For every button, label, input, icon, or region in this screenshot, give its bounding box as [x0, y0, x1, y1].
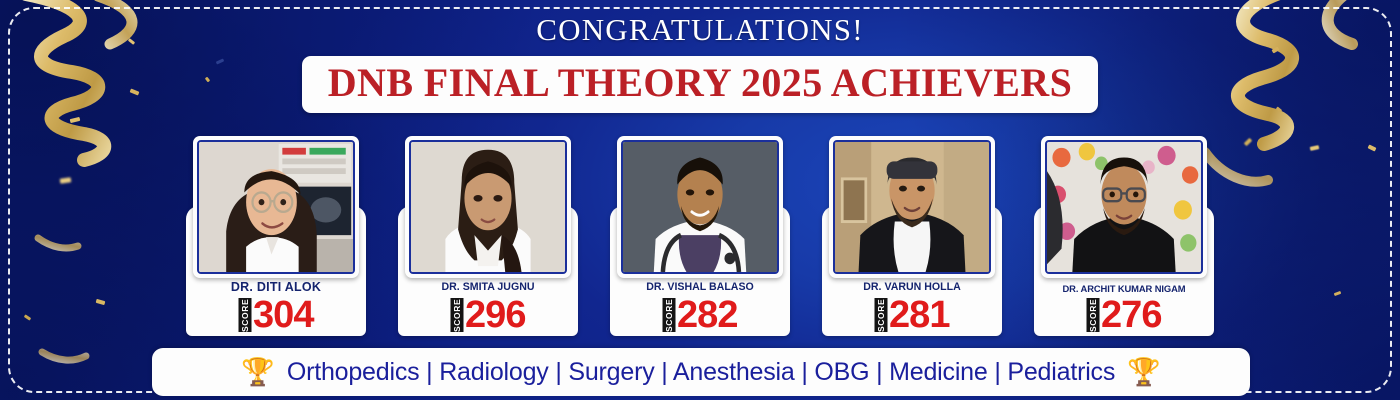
trophy-icon: 🏆: [241, 359, 275, 386]
card-caption: DR. SMITA JUGNU SCORE 296: [389, 282, 587, 336]
score-row: SCORE 304: [177, 296, 375, 336]
achiever-name: DR. DITI ALOK: [177, 281, 375, 294]
achiever-card[interactable]: DR. VARUN HOLLA SCORE 281: [813, 136, 1011, 336]
photo-frame: [405, 136, 571, 278]
photo-frame: [1041, 136, 1207, 278]
score-label: SCORE: [875, 298, 888, 332]
achiever-name: DR. SMITA JUGNU: [389, 282, 587, 293]
score-label: SCORE: [1087, 298, 1100, 332]
photo-border: [409, 140, 567, 274]
achiever-card[interactable]: DR. ARCHIT KUMAR NIGAM SCORE 276: [1025, 136, 1223, 336]
specialties-text: Orthopedics | Radiology | Surgery | Anes…: [287, 358, 1115, 387]
score-row: SCORE 276: [1025, 296, 1223, 336]
achiever-photo: [1047, 142, 1201, 272]
photo-border: [1045, 140, 1203, 274]
specialties-bar: 🏆 Orthopedics | Radiology | Surgery | An…: [152, 348, 1250, 396]
congratulations-banner: CONGRATULATIONS! DNB FINAL THEORY 2025 A…: [0, 0, 1400, 400]
score-label: SCORE: [239, 298, 252, 332]
score-value: 276: [1101, 299, 1161, 332]
title-box: DNB FINAL THEORY 2025 ACHIEVERS: [302, 56, 1098, 113]
achiever-name: DR. ARCHIT KUMAR NIGAM: [1025, 284, 1223, 293]
achievers-row: DR. DITI ALOK SCORE 304: [0, 136, 1400, 336]
achiever-name: DR. VARUN HOLLA: [813, 282, 1011, 293]
achiever-photo: [623, 142, 777, 272]
score-value: 304: [253, 299, 313, 332]
headline-block: CONGRATULATIONS! DNB FINAL THEORY 2025 A…: [0, 14, 1400, 113]
score-label: SCORE: [663, 298, 676, 332]
portrait-art: [835, 142, 989, 272]
photo-border: [197, 140, 355, 274]
score-value: 282: [677, 299, 737, 332]
card-caption: DR. VISHAL BALASO SCORE 282: [601, 282, 799, 336]
portrait-art: [623, 142, 777, 272]
score-label: SCORE: [451, 298, 464, 332]
photo-border: [833, 140, 991, 274]
photo-frame: [829, 136, 995, 278]
portrait-art: [199, 142, 353, 272]
portrait-art: [411, 142, 565, 272]
trophy-icon: 🏆: [1127, 359, 1161, 386]
score-row: SCORE 296: [389, 296, 587, 336]
achiever-photo: [411, 142, 565, 272]
achiever-photo: [835, 142, 989, 272]
score-value: 281: [889, 299, 949, 332]
score-row: SCORE 281: [813, 296, 1011, 336]
card-caption: DR. DITI ALOK SCORE 304: [177, 281, 375, 337]
achiever-card[interactable]: DR. VISHAL BALASO SCORE 282: [601, 136, 799, 336]
photo-border: [621, 140, 779, 274]
score-row: SCORE 282: [601, 296, 799, 336]
card-caption: DR. ARCHIT KUMAR NIGAM SCORE 276: [1025, 284, 1223, 336]
photo-frame: [193, 136, 359, 278]
portrait-art: [1047, 142, 1201, 272]
achiever-photo: [199, 142, 353, 272]
congratulations-text: CONGRATULATIONS!: [0, 14, 1400, 45]
page-title: DNB FINAL THEORY 2025 ACHIEVERS: [328, 62, 1072, 104]
achiever-card[interactable]: DR. DITI ALOK SCORE 304: [177, 136, 375, 336]
score-value: 296: [465, 299, 525, 332]
card-caption: DR. VARUN HOLLA SCORE 281: [813, 282, 1011, 336]
achiever-card[interactable]: DR. SMITA JUGNU SCORE 296: [389, 136, 587, 336]
achiever-name: DR. VISHAL BALASO: [601, 282, 799, 293]
photo-frame: [617, 136, 783, 278]
